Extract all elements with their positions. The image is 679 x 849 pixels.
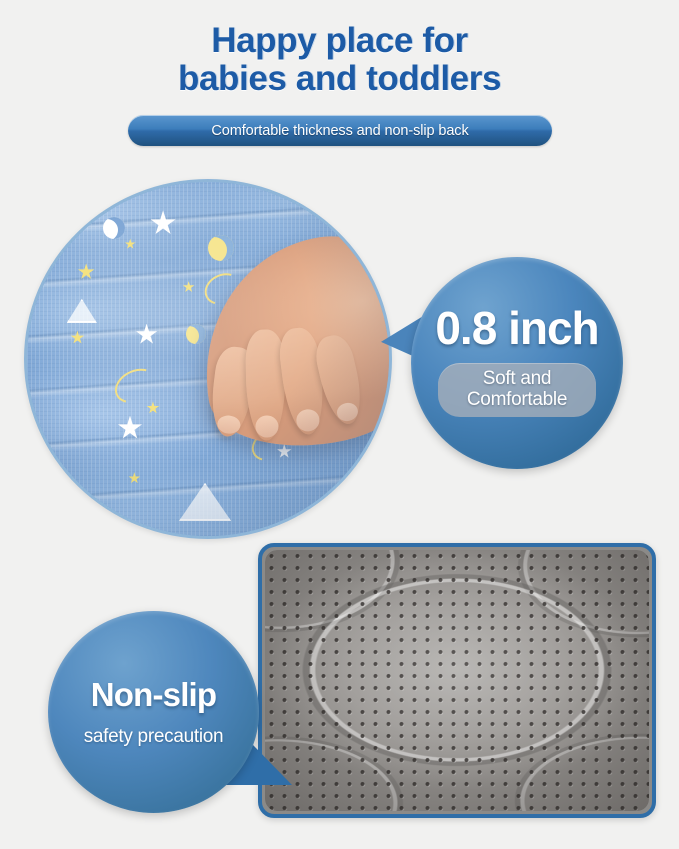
thickness-sub-line-2: Comfortable [438,389,596,410]
thickness-badge-subpill: Soft and Comfortable [438,363,596,417]
nonslip-photo [258,543,656,818]
thickness-photo-inner [27,182,389,536]
infographic-canvas: Happy place for babies and toddlers Comf… [0,0,679,849]
subtitle-banner: Comfortable thickness and non-slip back [128,115,552,146]
nonslip-headline: Non-slip [91,678,217,711]
thickness-badge-disc: 0.8 inch Soft and Comfortable [411,257,623,469]
photo-vignette [265,550,649,811]
page-title-line-2: babies and toddlers [0,60,679,98]
thickness-badge: 0.8 inch Soft and Comfortable [411,257,623,469]
thickness-sub-line-1: Soft and [438,368,596,389]
thickness-value: 0.8 inch [435,305,598,351]
photo-vignette [27,182,389,536]
subtitle-banner-label: Comfortable thickness and non-slip back [211,123,468,139]
nonslip-badge-disc: Non-slip safety precaution [48,611,259,813]
nonslip-subtext: safety precaution [84,727,224,746]
page-title: Happy place for babies and toddlers [0,22,679,98]
nonslip-photo-inner [265,550,649,811]
page-title-line-1: Happy place for [211,21,468,60]
thickness-photo [24,179,392,539]
nonslip-badge: Non-slip safety precaution [48,611,259,813]
